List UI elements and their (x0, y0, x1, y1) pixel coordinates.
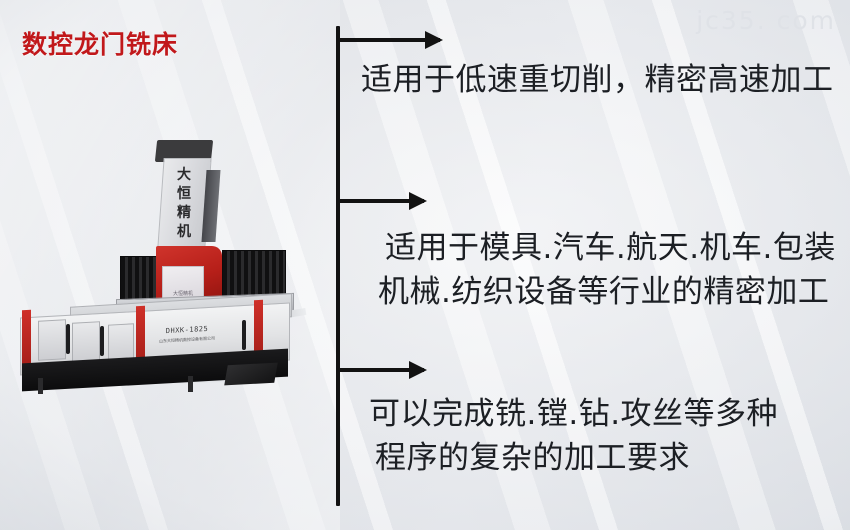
chip-conveyor (224, 363, 278, 386)
feature-line: 机械.纺织设备等行业的精密加工 (378, 270, 836, 314)
product-feature-slide: jc35. com 数控龙门铣床 大恒精机 大恒精机 DHXK-1825 山东大… (0, 0, 850, 530)
feature-line: 可以完成铣.镗.钻.攻丝等多种 (369, 392, 778, 436)
machine-photo: 大恒精机 大恒精机 DHXK-1825 山东大恒精机数控设备有限公司 (8, 128, 320, 390)
arrow-right-icon-1 (338, 38, 440, 42)
feature-line: 适用于低速重切削，精密高速加工 (361, 58, 834, 102)
page-title: 数控龙门铣床 (22, 25, 178, 61)
feature-block-3: 可以完成铣.镗.钻.攻丝等多种 程序的复杂的加工要求 (369, 392, 778, 480)
machine-leg-2 (188, 376, 193, 392)
arrow-right-icon-3 (338, 368, 424, 372)
connector-spine (336, 26, 340, 506)
column-brand-text: 大恒精机 (171, 166, 197, 242)
bed-handle-3 (242, 320, 246, 350)
arrow-right-icon-2 (338, 199, 424, 203)
feature-block-2: 适用于模具.汽车.航天.机车.包装 机械.纺织设备等行业的精密加工 (378, 226, 836, 314)
bed-handle-2 (100, 326, 104, 356)
machine-manufacturer-label: 山东大恒精机数控设备有限公司 (158, 335, 216, 344)
feature-line: 适用于模具.汽车.航天.机车.包装 (378, 226, 836, 270)
bed-handle-1 (66, 324, 70, 354)
watermark: jc35. com (696, 6, 836, 35)
bed-panel-1 (38, 319, 66, 361)
machine-badge: DHXK-1825 山东大恒精机数控设备有限公司 (158, 324, 216, 349)
feature-line: 程序的复杂的加工要求 (369, 436, 778, 480)
machine-leg-1 (38, 378, 43, 394)
bed-panel-2 (72, 321, 100, 363)
feature-block-1: 适用于低速重切削，精密高速加工 (361, 58, 834, 102)
